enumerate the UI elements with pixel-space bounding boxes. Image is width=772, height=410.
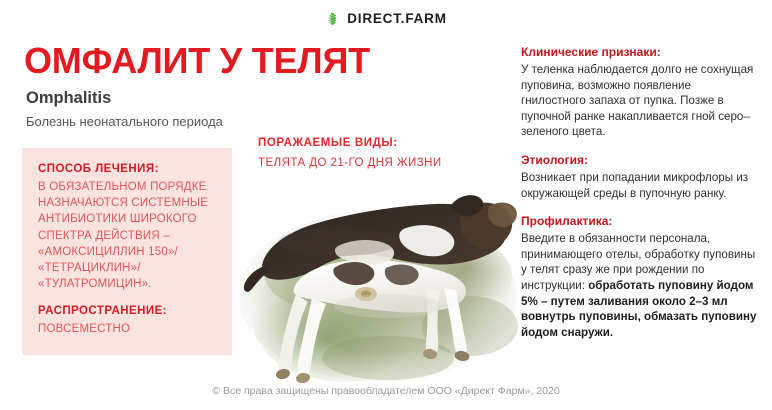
brand-name: DIRECT.FARM bbox=[347, 11, 447, 26]
affected-species-heading: ПОРАЖАЕМЫЕ ВИДЫ: bbox=[258, 135, 508, 151]
prevention-section: Профилактика: Введите в обязанности перс… bbox=[521, 213, 757, 340]
infographic-poster: DIRECT.FARM ОМФАЛИТ У ТЕЛЯТ Omphalitis Б… bbox=[0, 0, 772, 410]
prevention-body: Введите в обязанности персонала, принима… bbox=[521, 231, 757, 340]
treatment-body: В ОБЯЗАТЕЛЬНОМ ПОРЯДКЕ НАЗНАЧАЮТСЯ СИСТЕ… bbox=[38, 179, 216, 292]
page-title: ОМФАЛИТ У ТЕЛЯТ bbox=[24, 40, 464, 82]
title-block: ОМФАЛИТ У ТЕЛЯТ Omphalitis Болезнь неона… bbox=[24, 40, 464, 131]
wheat-ear-icon bbox=[325, 11, 340, 26]
etiology-heading: Этиология: bbox=[521, 152, 757, 169]
clinical-signs-heading: Клинические признаки: bbox=[521, 44, 757, 61]
treatment-card: СПОСОБ ЛЕЧЕНИЯ: В ОБЯЗАТЕЛЬНОМ ПОРЯДКЕ Н… bbox=[22, 148, 232, 355]
clinical-signs-body: У теленка наблюдается долго не сохнущая … bbox=[521, 62, 757, 140]
affected-species-body: ТЕЛЯТА ДО 21-ГО ДНЯ ЖИЗНИ bbox=[258, 155, 508, 171]
calf-watercolor-illustration bbox=[238, 176, 522, 388]
copyright-footer: © Все права защищены правообладателем ОО… bbox=[0, 385, 772, 397]
clinical-signs-section: Клинические признаки: У теленка наблюдае… bbox=[521, 44, 757, 140]
page-subtitle: Болезнь неонатального периода bbox=[26, 113, 464, 131]
distribution-body: ПОВСЕМЕСТНО bbox=[38, 321, 216, 337]
details-column: Клинические признаки: У теленка наблюдае… bbox=[521, 44, 757, 340]
etiology-body: Возникает при попадании микрофлоры из ок… bbox=[521, 170, 757, 201]
affected-species-block: ПОРАЖАЕМЫЕ ВИДЫ: ТЕЛЯТА ДО 21-ГО ДНЯ ЖИЗ… bbox=[258, 135, 508, 171]
brand-header: DIRECT.FARM bbox=[0, 7, 772, 29]
latin-name: Omphalitis bbox=[26, 88, 464, 109]
distribution-heading: РАСПРОСТРАНЕНИЕ: bbox=[38, 304, 216, 319]
etiology-section: Этиология: Возникает при попадании микро… bbox=[521, 152, 757, 201]
treatment-heading: СПОСОБ ЛЕЧЕНИЯ: bbox=[38, 162, 216, 177]
prevention-heading: Профилактика: bbox=[521, 213, 757, 230]
